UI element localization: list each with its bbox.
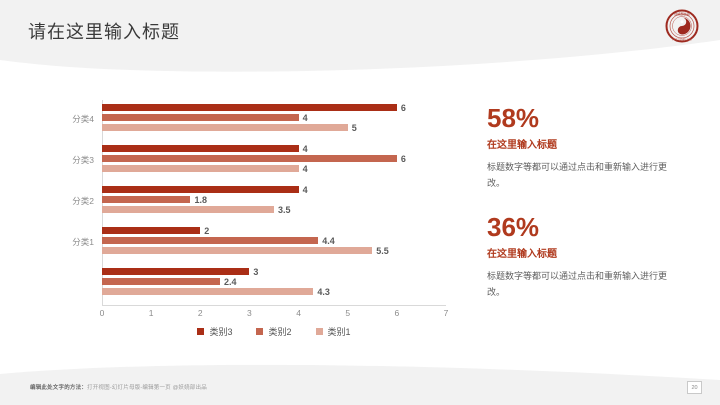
stat-description: 标题数字等都可以通过点击和重新输入进行更改。 [487, 159, 682, 191]
svg-text:妖娆部出品: 妖娆部出品 [674, 11, 689, 16]
chart-bar-value: 2.4 [224, 277, 237, 287]
chart-bar-row: 4 [102, 145, 446, 152]
chart-category-label: 分类4 [72, 113, 94, 125]
chart-x-tick: 7 [444, 308, 449, 318]
chart-category-label: 分类2 [72, 195, 94, 207]
bar-chart: 分类4645分类3464分类241.83.5分类124.45.532.44.3 … [46, 100, 446, 350]
side-panel: 58% 在这里输入标题 标题数字等都可以通过点击和重新输入进行更改。 36% 在… [487, 105, 682, 322]
chart-category-label: 分类3 [72, 154, 94, 166]
chart-x-tick: 1 [149, 308, 154, 318]
chart-bar-value: 4 [303, 144, 308, 154]
chart-bar [102, 237, 318, 244]
chart-bar [102, 104, 397, 111]
chart-bar [102, 186, 299, 193]
chart-group: 分类241.83.5 [102, 186, 446, 216]
stat-number: 58% [487, 105, 682, 132]
chart-bar-row: 5 [102, 124, 446, 131]
legend-swatch-icon [316, 328, 323, 335]
chart-bar-value: 4 [303, 185, 308, 195]
chart-bar-value: 3.5 [278, 205, 291, 215]
chart-group: 分类3464 [102, 145, 446, 175]
chart-legend-item[interactable]: 类别2 [256, 325, 291, 338]
chart-bar-row: 2.4 [102, 278, 446, 285]
chart-bar-row: 6 [102, 104, 446, 111]
chart-legend: 类别3类别2类别1 [102, 325, 446, 338]
footer-note-label: 编辑此处文字的方法： [30, 385, 87, 391]
chart-plot-area: 分类4645分类3464分类241.83.5分类124.45.532.44.3 [102, 100, 446, 305]
legend-swatch-icon [197, 328, 204, 335]
chart-bar-value: 1.8 [194, 195, 207, 205]
chart-category-label: 分类1 [72, 236, 94, 248]
chart-bar [102, 247, 372, 254]
stat-block: 36% 在这里输入标题 标题数字等都可以通过点击和重新输入进行更改。 [487, 214, 682, 301]
chart-bar-row: 5.5 [102, 247, 446, 254]
chart-bar [102, 278, 220, 285]
chart-bar-value: 4 [303, 164, 308, 174]
chart-bar-value: 3 [253, 267, 258, 277]
stat-description: 标题数字等都可以通过点击和重新输入进行更改。 [487, 268, 682, 300]
slide-canvas: 请在这里输入标题 妖娆部出品 PPT TEMPLATE 分类4645分类3464… [0, 0, 720, 405]
stat-subtitle: 在这里输入标题 [487, 136, 682, 151]
chart-bar [102, 114, 299, 121]
chart-x-tick: 0 [100, 308, 105, 318]
legend-swatch-icon [256, 328, 263, 335]
chart-bar [102, 165, 299, 172]
chart-bar [102, 145, 299, 152]
chart-bar-value: 5.5 [376, 246, 389, 256]
chart-legend-label: 类别2 [268, 325, 291, 338]
chart-bar-value: 2 [204, 226, 209, 236]
chart-bar-row: 3.5 [102, 206, 446, 213]
stat-subtitle: 在这里输入标题 [487, 245, 682, 260]
chart-bar [102, 196, 190, 203]
chart-x-tick: 4 [296, 308, 301, 318]
chart-x-tick: 5 [345, 308, 350, 318]
chart-bar [102, 288, 313, 295]
circular-seal-logo-icon: 妖娆部出品 PPT TEMPLATE [662, 6, 702, 46]
chart-bar [102, 227, 200, 234]
chart-bar-value: 4.3 [317, 287, 330, 297]
chart-legend-label: 类别3 [209, 325, 232, 338]
chart-bar [102, 206, 274, 213]
chart-bar [102, 268, 249, 275]
chart-bar-value: 4.4 [322, 236, 335, 246]
chart-legend-item[interactable]: 类别1 [316, 325, 351, 338]
chart-x-tick-labels: 01234567 [102, 308, 446, 322]
chart-bar-row: 4.4 [102, 237, 446, 244]
chart-x-axis [102, 305, 446, 306]
chart-bar [102, 124, 348, 131]
chart-legend-label: 类别1 [328, 325, 351, 338]
chart-group: 32.44.3 [102, 268, 446, 298]
chart-group: 分类124.45.5 [102, 227, 446, 257]
footer-note: 编辑此处文字的方法：打开视图-幻灯片母版-编辑第一页 @妖娆部出品 [30, 383, 207, 391]
chart-legend-item[interactable]: 类别3 [197, 325, 232, 338]
chart-bar-row: 3 [102, 268, 446, 275]
chart-bar-row: 4.3 [102, 288, 446, 295]
chart-bar-value: 4 [303, 113, 308, 123]
chart-bar-row: 4 [102, 186, 446, 193]
footer-note-text: 打开视图-幻灯片母版-编辑第一页 @妖娆部出品 [87, 385, 207, 391]
svg-text:PPT TEMPLATE: PPT TEMPLATE [672, 38, 691, 42]
stat-number: 36% [487, 214, 682, 241]
chart-bar-value: 6 [401, 154, 406, 164]
chart-bar-row: 1.8 [102, 196, 446, 203]
chart-bar-value: 5 [352, 123, 357, 133]
chart-bar-row: 2 [102, 227, 446, 234]
chart-x-tick: 2 [198, 308, 203, 318]
chart-x-tick: 3 [247, 308, 252, 318]
page-title: 请在这里输入标题 [28, 18, 180, 44]
page-number-badge: 20 [687, 381, 702, 394]
chart-bar-row: 4 [102, 114, 446, 121]
stat-block: 58% 在这里输入标题 标题数字等都可以通过点击和重新输入进行更改。 [487, 105, 682, 192]
chart-bar-row: 4 [102, 165, 446, 172]
chart-bar-row: 6 [102, 155, 446, 162]
chart-x-tick: 6 [394, 308, 399, 318]
chart-group: 分类4645 [102, 104, 446, 134]
chart-bar [102, 155, 397, 162]
chart-bar-value: 6 [401, 103, 406, 113]
